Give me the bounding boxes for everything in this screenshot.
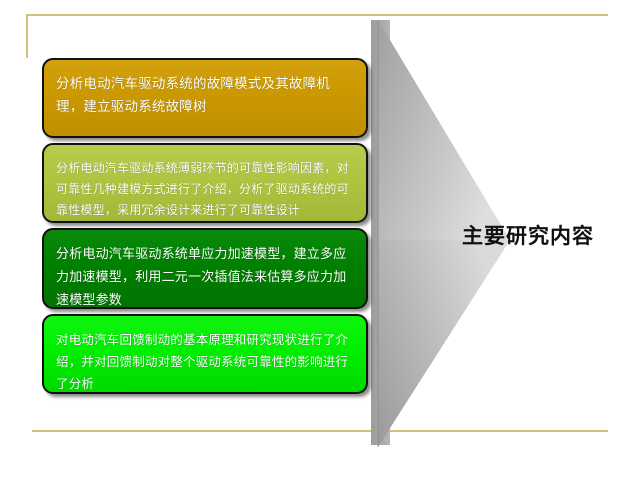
left-accent-rule: [26, 14, 28, 58]
content-box-2-text: 分析电动汽车驱动系统薄弱环节的可靠性影响因素，对可靠性几种建模方式进行了介绍，分…: [56, 158, 354, 221]
content-box-2[interactable]: 分析电动汽车驱动系统薄弱环节的可靠性影响因素，对可靠性几种建模方式进行了介绍，分…: [42, 143, 368, 223]
top-divider-rule: [26, 14, 608, 16]
content-box-1-text: 分析电动汽车驱动系统的故障模式及其故障机理，建立驱动系统故障树: [56, 73, 354, 119]
arrow-head-lower: [378, 240, 510, 447]
presentation-slide: 分析电动汽车驱动系统的故障模式及其故障机理，建立驱动系统故障树 分析电动汽车驱动…: [0, 0, 640, 480]
content-box-1[interactable]: 分析电动汽车驱动系统的故障模式及其故障机理，建立驱动系统故障树: [42, 58, 368, 138]
arrow-shaft: [371, 20, 390, 445]
content-box-4[interactable]: 对电动汽车回馈制动的基本原理和研究现状进行了介绍，并对回馈制动对整个驱动系统可靠…: [42, 314, 368, 394]
bottom-divider-rule: [32, 430, 608, 432]
slide-headline: 主要研究内容: [462, 220, 594, 250]
content-box-3-text: 分析电动汽车驱动系统单应力加速模型，建立多应力加速模型，利用二元一次插值法来估算…: [56, 243, 354, 309]
content-box-4-text: 对电动汽车回馈制动的基本原理和研究现状进行了介绍，并对回馈制动对整个驱动系统可靠…: [56, 329, 354, 394]
arrow-head-upper: [378, 20, 510, 240]
content-box-3[interactable]: 分析电动汽车驱动系统单应力加速模型，建立多应力加速模型，利用二元一次插值法来估算…: [42, 228, 368, 309]
